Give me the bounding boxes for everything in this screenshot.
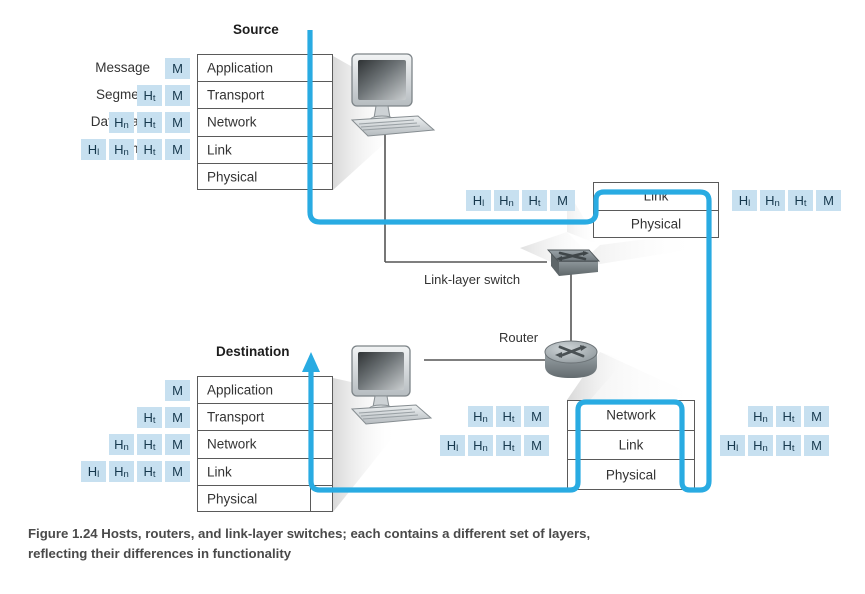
figure-canvas: Source Application Transport Network Lin… [0, 0, 865, 594]
data-flow-path [0, 0, 865, 594]
